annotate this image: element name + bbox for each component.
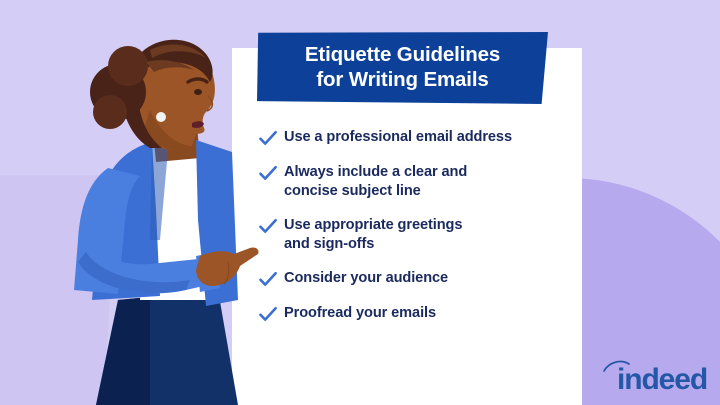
list-item-text: Consider your audience <box>284 269 448 288</box>
check-icon <box>258 270 278 290</box>
page-title-line-2: for Writing Emails <box>305 67 500 92</box>
list-item-line-2: and sign-offs <box>284 235 462 254</box>
page-title: Etiquette Guidelines for Writing Emails <box>305 42 500 94</box>
list-item-line-1: Use a professional email address <box>284 128 512 147</box>
list-item: Proofread your emails <box>258 304 558 325</box>
title-banner: Etiquette Guidelines for Writing Emails <box>257 32 548 104</box>
list-item: Use a professional email address <box>258 128 558 149</box>
page-title-line-1: Etiquette Guidelines <box>305 42 500 67</box>
list-item-line-1: Use appropriate greetings <box>284 216 462 235</box>
guidelines-list: Use a professional email address Always … <box>258 128 558 339</box>
indeed-logo-text: indeed <box>617 363 707 397</box>
check-icon <box>258 305 278 325</box>
background-left-panel-shape <box>0 175 116 405</box>
list-item: Use appropriate greetings and sign-offs <box>258 216 558 255</box>
check-icon <box>258 217 278 237</box>
list-item-text: Use appropriate greetings and sign-offs <box>284 216 462 255</box>
list-item-line-1: Proofread your emails <box>284 304 436 323</box>
list-item-text: Use a professional email address <box>284 128 512 147</box>
list-item-line-2: concise subject line <box>284 182 467 201</box>
list-item-text: Proofread your emails <box>284 304 436 323</box>
list-item-line-1: Always include a clear and <box>284 163 467 182</box>
list-item-text: Always include a clear and concise subje… <box>284 163 467 202</box>
list-item-line-1: Consider your audience <box>284 269 448 288</box>
check-icon <box>258 164 278 184</box>
list-item: Consider your audience <box>258 269 558 290</box>
list-item: Always include a clear and concise subje… <box>258 163 558 202</box>
check-icon <box>258 129 278 149</box>
slide-canvas: Etiquette Guidelines for Writing Emails … <box>0 0 720 405</box>
indeed-logo: indeed <box>601 358 705 398</box>
